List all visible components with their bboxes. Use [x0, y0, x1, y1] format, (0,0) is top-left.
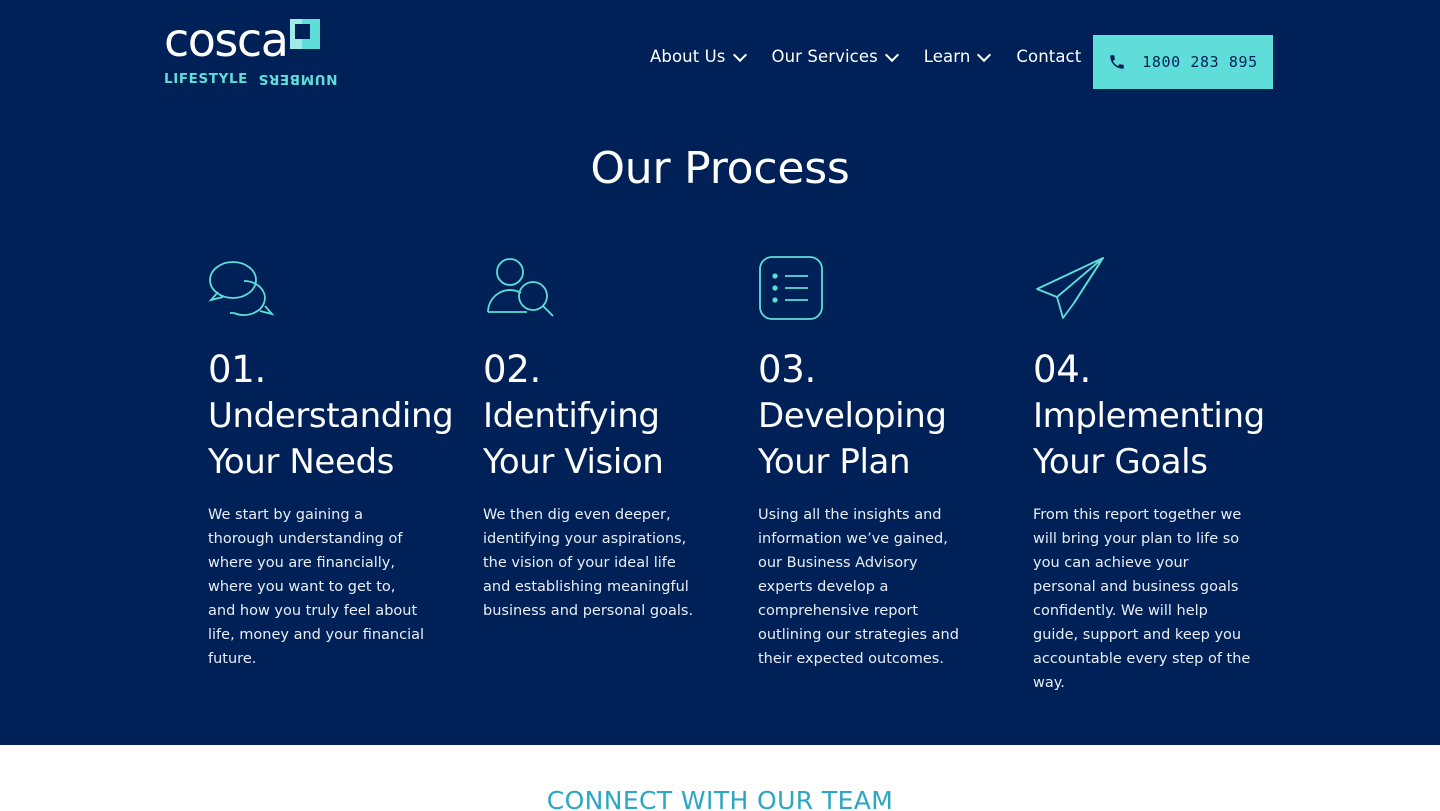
- brand-tagline-numbers: NUMBERS: [258, 71, 338, 87]
- nav-item-contact-label: Contact: [1016, 46, 1081, 68]
- nav-item-our-services-label: Our Services: [772, 46, 878, 68]
- speech-bubbles-icon: [208, 252, 438, 324]
- page-title: Our Process: [0, 140, 1440, 198]
- process-step-01-number: 01.: [208, 346, 438, 393]
- phone-cta-button[interactable]: 1800 283 895: [1093, 35, 1273, 89]
- process-step-03-number: 03.: [758, 346, 988, 393]
- process-step-04-number: 04.: [1033, 346, 1283, 393]
- process-step-01: 01. Understanding Your Needs We start by…: [208, 252, 483, 695]
- paper-plane-icon: [1033, 252, 1283, 324]
- nav-item-about-us-label: About Us: [650, 46, 726, 68]
- main-navigation: About Us Our Services Learn Contact: [650, 46, 1081, 68]
- page-root: cosca LIFESTYLE NUMBERS About Us Our Ser…: [0, 0, 1440, 811]
- person-search-icon: [483, 252, 713, 324]
- chevron-down-icon: [735, 50, 746, 61]
- process-step-03-body: Using all the insights and information w…: [758, 503, 976, 671]
- process-section: cosca LIFESTYLE NUMBERS About Us Our Ser…: [0, 0, 1440, 745]
- phone-icon: [1108, 53, 1126, 71]
- process-step-03-title: Developing Your Plan: [758, 393, 988, 485]
- nav-item-learn[interactable]: Learn: [924, 46, 991, 68]
- nav-item-contact[interactable]: Contact: [1016, 46, 1081, 68]
- site-header: cosca LIFESTYLE NUMBERS About Us Our Ser…: [0, 0, 1440, 108]
- brand-tagline-lifestyle: LIFESTYLE: [164, 71, 248, 87]
- process-step-01-title: Understanding Your Needs: [208, 393, 438, 485]
- nav-item-about-us[interactable]: About Us: [650, 46, 746, 68]
- chevron-down-icon: [979, 50, 990, 61]
- checklist-icon: [758, 252, 988, 324]
- process-step-01-body: We start by gaining a thorough understan…: [208, 503, 426, 671]
- process-step-02-number: 02.: [483, 346, 713, 393]
- process-step-02: 02. Identifying Your Vision We then dig …: [483, 252, 758, 695]
- logo-square-cutout-icon: [295, 24, 310, 39]
- process-step-02-title: Identifying Your Vision: [483, 393, 713, 485]
- connect-heading: CONNECT WITH OUR TEAM: [0, 786, 1440, 811]
- process-step-03: 03. Developing Your Plan Using all the i…: [758, 252, 1033, 695]
- process-step-04-title: Implementing Your Goals: [1033, 393, 1283, 485]
- nav-item-learn-label: Learn: [924, 46, 971, 68]
- process-steps-grid: 01. Understanding Your Needs We start by…: [208, 252, 1283, 695]
- chevron-down-icon: [887, 50, 898, 61]
- process-step-04: 04. Implementing Your Goals From this re…: [1033, 252, 1283, 695]
- process-step-04-body: From this report together we will bring …: [1033, 503, 1251, 695]
- brand-tagline: LIFESTYLE NUMBERS: [164, 70, 324, 88]
- nav-item-our-services[interactable]: Our Services: [772, 46, 898, 68]
- phone-cta-label: 1800 283 895: [1142, 53, 1258, 71]
- process-step-02-body: We then dig even deeper, identifying you…: [483, 503, 701, 623]
